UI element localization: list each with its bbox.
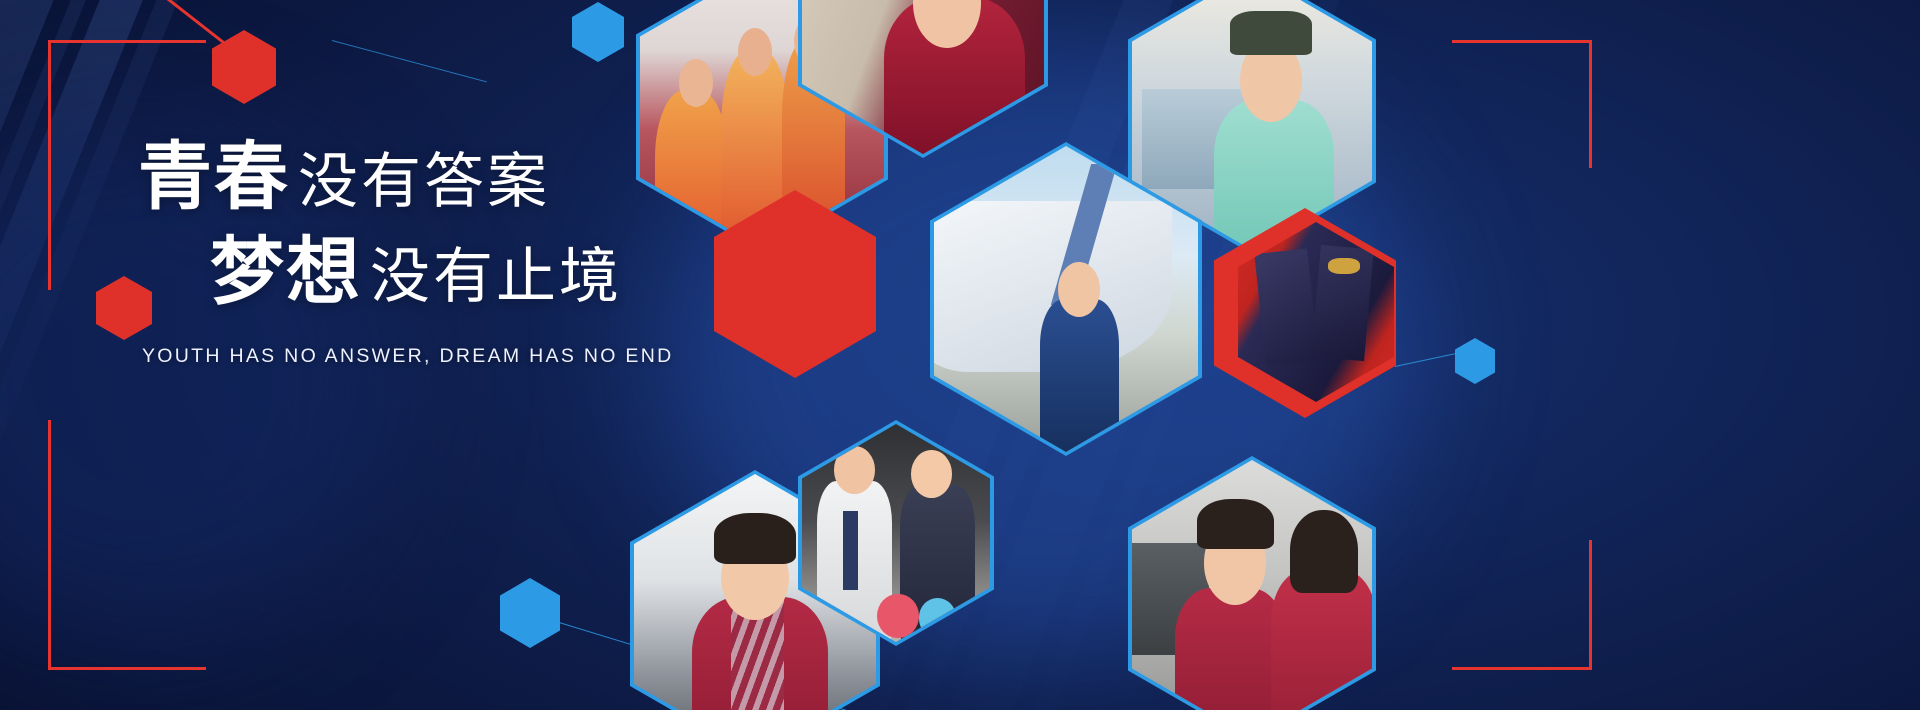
accent-hex-blue-top [572, 2, 624, 62]
connector-line-blue-topleft [332, 40, 487, 83]
headline-subtitle: YOUTH HAS NO ANSWER, DREAM HAS NO END [142, 345, 758, 368]
headline-line2-emphasis: 梦想 [210, 235, 362, 310]
bracket-bottom-right [1452, 540, 1592, 670]
headline-line1-emphasis: 青春 [138, 140, 290, 215]
photo-crew-two-talking [1132, 460, 1372, 710]
bracket-top-right [1452, 40, 1592, 168]
recruitment-banner: 青春 没有答案 梦想 没有止境 YOUTH HAS NO ANSWER, DRE… [0, 0, 1920, 710]
photo-hex-crew-two-talking[interactable] [1128, 456, 1376, 710]
headline-line2-rest: 没有止境 [370, 247, 622, 308]
bracket-bottom-left [48, 420, 206, 670]
headline-line-2: 梦想 没有止境 [210, 235, 758, 310]
accent-hex-blue-right [1455, 338, 1495, 384]
accent-hex-blue-bottom [500, 578, 560, 648]
headline-line1-rest: 没有答案 [298, 152, 550, 213]
